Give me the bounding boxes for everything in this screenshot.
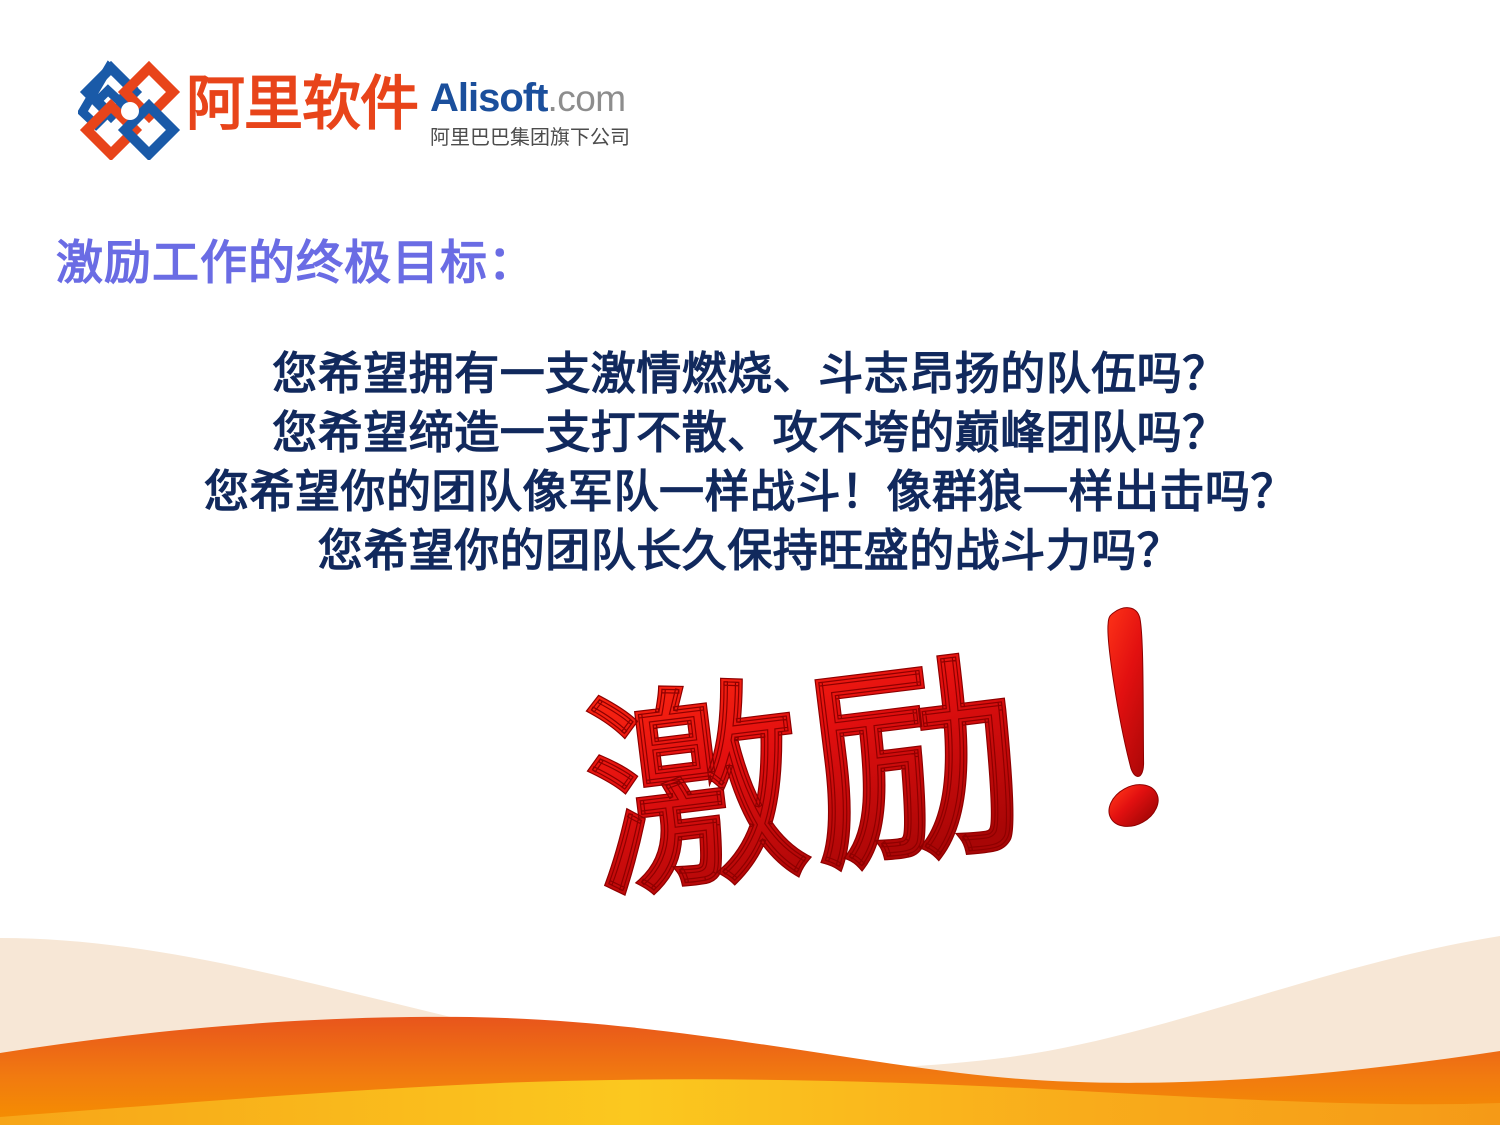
body-line-3: 您希望你的团队像军队一样战斗！像群狼一样出击吗？ — [0, 462, 1500, 521]
body-line-2: 您希望缔造一支打不散、攻不垮的巅峰团队吗？ — [0, 403, 1500, 462]
body-text-block: 您希望拥有一支激情燃烧、斗志昂扬的队伍吗？ 您希望缔造一支打不散、攻不垮的巅峰团… — [0, 344, 1500, 580]
logo-domain-suffix: .com — [547, 78, 625, 119]
wordart-jili: 激励 — [580, 592, 1220, 922]
slide-canvas: 阿里软件 Alisoft.com 阿里巴巴集团旗下公司 激励工作的终极目标： 您… — [0, 0, 1500, 1125]
logo-wordmark: 阿里软件 Alisoft.com 阿里巴巴集团旗下公司 — [186, 62, 630, 150]
decorative-wave-footer — [0, 905, 1500, 1125]
logo-subtitle: 阿里巴巴集团旗下公司 — [430, 121, 630, 150]
logo-latin-name: Alisoft — [430, 76, 547, 120]
logo-chinese-name: 阿里软件 — [186, 74, 418, 133]
page-title: 激励工作的终极目标： — [56, 224, 536, 293]
body-line-4: 您希望你的团队长久保持旺盛的战斗力吗？ — [0, 521, 1500, 580]
wordart-exclamation-icon — [1079, 606, 1168, 837]
body-line-1: 您希望拥有一支激情燃烧、斗志昂扬的队伍吗？ — [0, 344, 1500, 403]
alisoft-pinwheel-logo-icon — [78, 60, 182, 160]
logo-latin-group: Alisoft.com 阿里巴巴集团旗下公司 — [430, 78, 630, 150]
wordart-characters: 激励 — [574, 625, 1044, 930]
alisoft-logo: 阿里软件 Alisoft.com 阿里巴巴集团旗下公司 — [78, 58, 630, 162]
logo-latin-line: Alisoft.com — [430, 78, 626, 118]
